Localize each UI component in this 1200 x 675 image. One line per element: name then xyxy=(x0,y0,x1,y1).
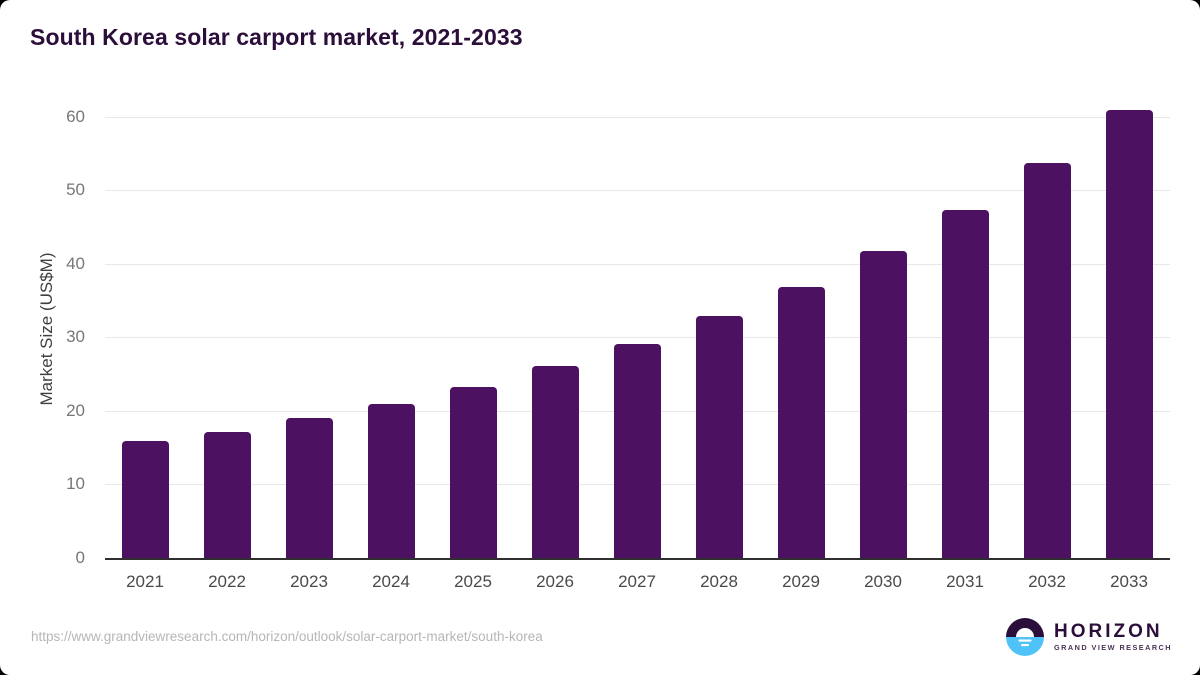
x-axis-line xyxy=(105,558,1170,560)
page-title: South Korea solar carport market, 2021-2… xyxy=(30,24,523,51)
bar-2031[interactable] xyxy=(942,210,989,558)
y-axis-tick-label: 40 xyxy=(25,254,85,274)
source-url[interactable]: https://www.grandviewresearch.com/horizo… xyxy=(31,629,543,644)
x-axis-tick-label: 2033 xyxy=(1079,572,1179,592)
bar-2032[interactable] xyxy=(1024,163,1071,558)
bar-2025[interactable] xyxy=(450,387,497,558)
chart-card: South Korea solar carport market, 2021-2… xyxy=(0,0,1200,675)
y-axis-tick-label: 20 xyxy=(25,401,85,421)
bar-2023[interactable] xyxy=(286,418,333,558)
bar-2021[interactable] xyxy=(122,441,169,558)
brand-wordmark: HORIZON xyxy=(1054,622,1172,641)
bar-2022[interactable] xyxy=(204,432,251,558)
brand-tagline: GRAND VIEW RESEARCH xyxy=(1054,644,1172,651)
y-axis-tick-label: 10 xyxy=(25,474,85,494)
brand-logo[interactable]: HORIZON GRAND VIEW RESEARCH xyxy=(1005,617,1172,657)
horizon-sun-icon xyxy=(1005,617,1045,657)
bar-2026[interactable] xyxy=(532,366,579,558)
bar-2028[interactable] xyxy=(696,316,743,558)
y-axis-tick-label: 60 xyxy=(25,107,85,127)
y-axis-tick-label: 50 xyxy=(25,180,85,200)
y-axis-tick-label: 30 xyxy=(25,327,85,347)
bar-2027[interactable] xyxy=(614,344,661,558)
brand-logo-text: HORIZON GRAND VIEW RESEARCH xyxy=(1054,622,1172,651)
plot-area: 0102030405060 xyxy=(105,100,1170,558)
bar-2030[interactable] xyxy=(860,251,907,558)
bar-series xyxy=(105,100,1170,558)
bar-2029[interactable] xyxy=(778,287,825,558)
y-axis-tick-label: 0 xyxy=(25,548,85,568)
bar-2024[interactable] xyxy=(368,404,415,558)
bar-2033[interactable] xyxy=(1106,110,1153,558)
